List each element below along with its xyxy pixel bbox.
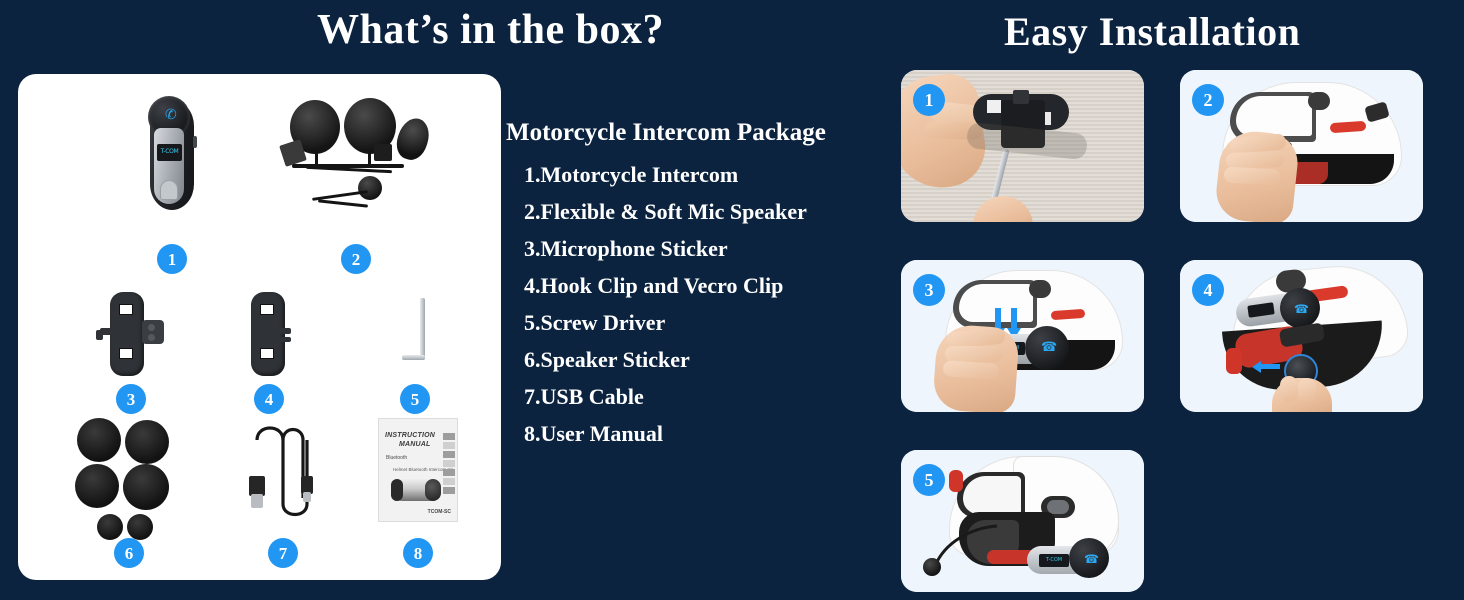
page-title-whats-in-the-box: What’s in the box? [317,6,664,54]
usb-cable-image [243,418,323,526]
manual-bluetooth-label: Bluetooth [386,455,407,461]
package-list-item: 8.User Manual [506,415,896,452]
box-item-hook-vecro-clip: 4 [214,292,324,410]
install-step-badge-2: 2 [1192,84,1224,116]
box-item-motorcycle-intercom: ✆ T-COM 1 [116,90,228,280]
install-step-card-4: ☎ 4 [1180,260,1423,412]
install-step-card-3: T-COM ☎ 3 [901,260,1144,412]
intercom-unit-image: ✆ T-COM [144,90,200,210]
user-manual-image: INSTRUCTION MANUAL Bluetooth Helmet Blue… [378,418,458,522]
allen-key-image [398,298,432,368]
box-item-badge-8: 8 [403,538,433,568]
install-step-badge-1: 1 [913,84,945,116]
install-step-badge-3: 3 [913,274,945,306]
box-item-user-manual: INSTRUCTION MANUAL Bluetooth Helmet Blue… [363,418,473,566]
hook-clip-image [92,292,170,378]
box-item-speaker-sticker: 6 [66,418,192,566]
package-item-list: 1.Motorcycle Intercom 2.Flexible & Soft … [506,156,896,452]
manual-device-illustration [391,479,441,501]
box-item-usb-cable: 7 [218,418,348,566]
box-item-badge-2: 2 [341,244,371,274]
install-step-badge-4: 4 [1192,274,1224,306]
box-item-badge-7: 7 [268,538,298,568]
manual-title-line1: INSTRUCTION [385,432,435,439]
box-item-badge-4: 4 [254,384,284,414]
box-item-badge-6: 6 [114,538,144,568]
install-step-card-5: T-COM ☎ 5 [901,450,1144,592]
manual-model-code: TCOM-SC [428,509,451,515]
intercom-lcd-text: T-COM [157,148,182,156]
page-title-easy-installation: Easy Installation [1004,8,1300,55]
manual-side-bars [443,433,455,496]
package-list-item: 2.Flexible & Soft Mic Speaker [506,193,896,230]
boom-mic-arm [923,522,1003,586]
box-contents-panel: ✆ T-COM 1 2 [18,74,501,580]
box-item-badge-3: 3 [116,384,146,414]
speaker-sticker-pads-image [75,418,183,526]
box-item-microphone-sticker-clip: 3 [74,292,188,410]
package-list-item: 1.Motorcycle Intercom [506,156,896,193]
phone-icon: ✆ [165,108,173,122]
box-item-screw-driver: 5 [360,292,470,410]
package-list-item: 6.Speaker Sticker [506,341,896,378]
manual-title-line2: MANUAL [399,440,431,449]
vecro-clip-image [239,292,299,378]
box-item-mic-speaker: 2 [236,90,476,280]
install-step-card-2: 2 [1180,70,1423,222]
mic-speaker-headset-image [266,90,446,220]
package-list-item: 4.Hook Clip and Vecro Clip [506,267,896,304]
package-list-item: 3.Microphone Sticker [506,230,896,267]
install-step-badge-5: 5 [913,464,945,496]
package-list-heading: Motorcycle Intercom Package [506,118,896,148]
box-item-badge-1: 1 [157,244,187,274]
install-step-card-1: 1 [901,70,1144,222]
package-list-item: 7.USB Cable [506,378,896,415]
package-contents-list: Motorcycle Intercom Package 1.Motorcycle… [506,118,896,452]
package-list-item: 5.Screw Driver [506,304,896,341]
box-item-badge-5: 5 [400,384,430,414]
